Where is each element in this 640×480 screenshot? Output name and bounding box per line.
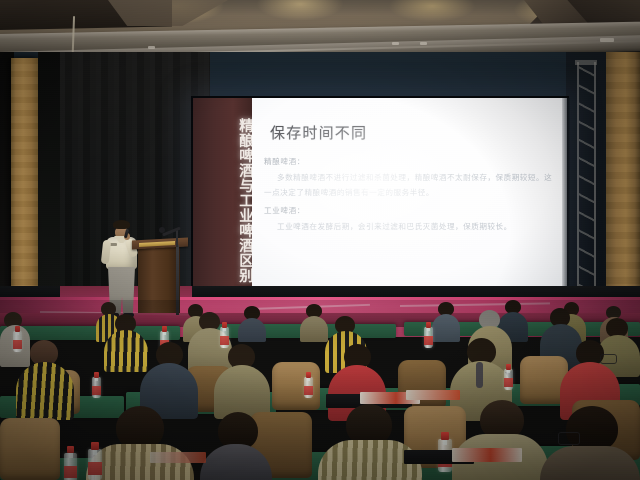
water-bottle — [304, 372, 313, 398]
beam-fixture — [392, 42, 399, 45]
podium-mic-arm — [176, 229, 178, 247]
bottle-label — [64, 466, 77, 478]
eyeglasses — [558, 432, 580, 445]
eyeglasses — [600, 354, 617, 364]
slide-section-paragraph-1: 多数精酿啤酒不进行过滤和杀菌处理，精酿啤酒不太耐保存，保质期较短。这一点决定了精… — [264, 171, 556, 201]
beam-fixture — [148, 46, 155, 49]
beam-fixture — [600, 38, 614, 42]
audience-member-foreground — [86, 406, 194, 480]
bottle-label — [424, 336, 433, 345]
audience-member — [214, 344, 270, 416]
audience-member-foreground — [540, 406, 640, 480]
slide-section-paragraph-2: 工业啤酒在发酵后期，会引来过滤和巴氏灭菌处理，保质期较长。 — [264, 220, 556, 235]
audience-member — [238, 306, 266, 340]
stage-truss — [577, 62, 596, 312]
audience-area — [0, 300, 640, 480]
slide-section-heading-2: 工业啤酒： — [264, 205, 556, 216]
document-paper — [406, 390, 460, 400]
bottle-cap — [222, 322, 227, 328]
water-bottle — [88, 442, 102, 480]
slide-title: 保存时间不同 — [270, 122, 367, 143]
slide-banner-text: 精酿啤酒与工业啤酒区别 — [193, 118, 252, 283]
presenter-hair — [113, 220, 130, 229]
bottle-cap — [306, 372, 311, 378]
audience-member — [16, 340, 74, 416]
bottle-label — [504, 378, 513, 387]
document-paper — [150, 452, 206, 463]
podium-microphone-head — [159, 227, 165, 233]
bottle-cap — [441, 432, 449, 440]
audience-torso-striped — [16, 362, 74, 420]
bottle-cap — [91, 442, 99, 450]
water-bottle — [424, 322, 433, 348]
bottle-cap — [67, 446, 74, 453]
lanyard — [476, 362, 483, 388]
screen-edge-right — [562, 98, 570, 296]
document-paper — [452, 448, 522, 462]
bottle-label — [92, 386, 101, 395]
beam-fixture — [420, 42, 427, 45]
truss-cap-top — [575, 60, 597, 65]
audience-member — [140, 342, 198, 416]
audience-torso — [238, 318, 266, 342]
bottle-cap — [426, 322, 431, 328]
audience-torso — [540, 446, 640, 480]
audience-member-foreground — [318, 404, 422, 480]
audience-torso — [214, 365, 270, 419]
conference-hall-photo: 精酿啤酒与工业啤酒区别 保存时间不同 精酿啤酒： 多数精酿啤酒不进行过滤和杀菌处… — [0, 0, 640, 480]
slide-vertical-banner: 精酿啤酒与工业啤酒区别 — [193, 98, 252, 296]
audience-member-foreground — [200, 412, 272, 480]
wood-pillar-right — [606, 52, 640, 320]
audience-member — [432, 302, 460, 340]
bottle-label — [88, 462, 102, 475]
audience-torso — [200, 444, 272, 480]
bottle-cap — [162, 326, 167, 332]
audience-torso — [300, 316, 328, 342]
bottle-cap — [506, 364, 511, 370]
water-bottle — [64, 446, 77, 480]
slide-content-area: 保存时间不同 精酿啤酒： 多数精酿啤酒不进行过滤和杀菌处理，精酿啤酒不太耐保存，… — [252, 98, 567, 296]
slide-section-heading-1: 精酿啤酒： — [264, 156, 556, 167]
audience-member — [300, 304, 328, 340]
bottle-cap — [15, 326, 20, 332]
bottle-label — [304, 386, 313, 395]
water-bottle — [92, 372, 101, 398]
bottle-cap — [94, 372, 99, 378]
ceiling-panel — [108, 0, 228, 26]
water-bottle — [504, 364, 513, 390]
conference-chair — [0, 418, 60, 480]
audience-member-foreground — [452, 400, 548, 480]
slide-body: 精酿啤酒： 多数精酿啤酒不进行过滤和杀菌处理，精酿啤酒不太耐保存，保质期较短。这… — [264, 156, 556, 238]
